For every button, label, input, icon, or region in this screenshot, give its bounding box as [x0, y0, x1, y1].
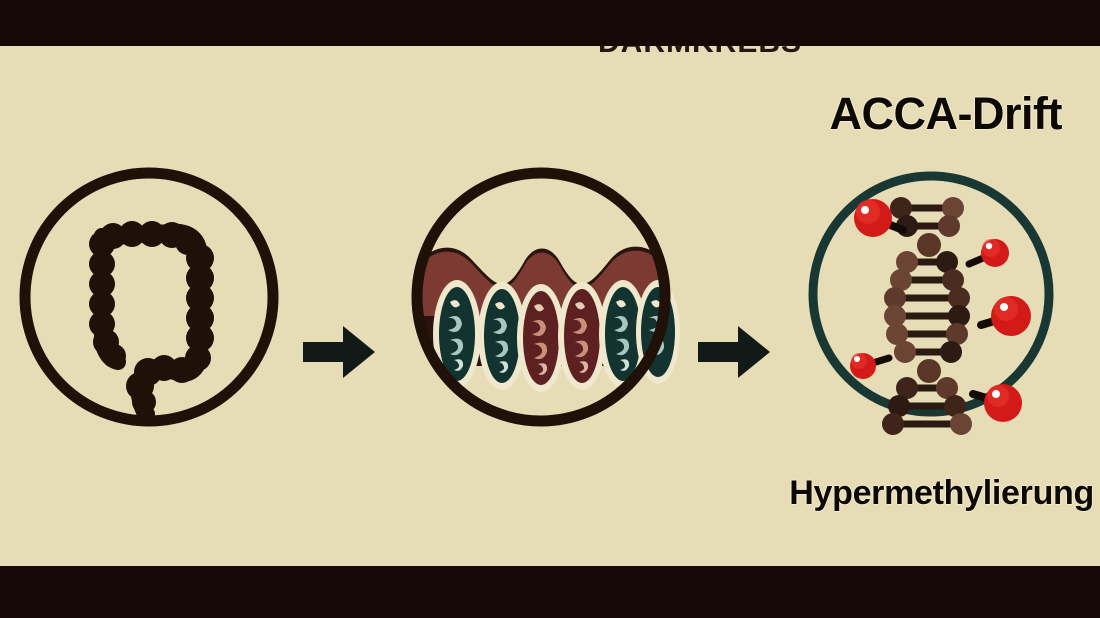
panel-dna[interactable] — [805, 168, 1057, 420]
caption-hypermethylation: Hypermethylierung — [789, 474, 1094, 513]
dna-helix — [882, 197, 972, 435]
slide-canvas: DARMKREBS — [0, 46, 1100, 566]
methyl-group-3 — [981, 296, 1031, 336]
methyl-group-4 — [850, 353, 889, 379]
letterbox-bottom-bar — [0, 566, 1100, 618]
crypt-3 — [517, 284, 565, 392]
arrow-crypts-to-dna — [698, 324, 770, 380]
headline-title: ACCA-Drift — [830, 88, 1062, 140]
screenshot-frame: DARMKREBS — [0, 0, 1100, 618]
panel-colon[interactable] — [18, 166, 280, 428]
arrow-colon-to-crypts — [303, 324, 375, 380]
crypt-4 — [558, 282, 606, 390]
methyl-group-2 — [969, 239, 1009, 267]
letterbox-top-bar — [0, 0, 1100, 46]
colon-haustra — [89, 221, 214, 422]
clipped-title-text: DARMKREBS — [598, 46, 802, 60]
panel-crypts[interactable] — [410, 166, 672, 428]
